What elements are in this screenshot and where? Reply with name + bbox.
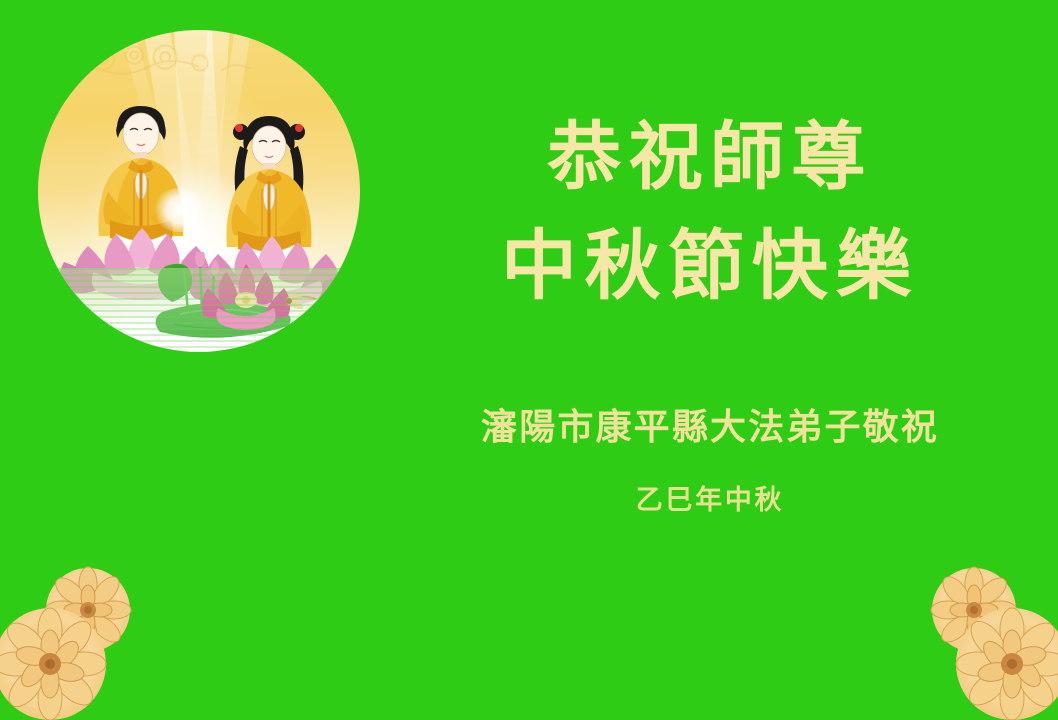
greeting-line-2: 中秋節快樂 [380,228,1040,304]
light-glow-orb [152,188,208,232]
cloud-scroll-pattern-icon [57,40,289,92]
water-reflection [38,268,360,352]
greeting-text-block: 恭祝師尊 中秋節快樂 [380,120,1040,304]
chrysanthemum-cluster-left [0,560,182,720]
chrysanthemum-cluster-right [880,560,1058,720]
date-line: 乙巳年中秋 [380,478,1040,517]
circular-illustration [38,30,360,352]
greeting-card: 恭祝師尊 中秋節快樂 瀋陽市康平縣大法弟子敬祝 乙巳年中秋 [0,0,1058,720]
signature-line: 瀋陽市康平縣大法弟子敬祝 [380,398,1040,450]
greeting-line-1: 恭祝師尊 [380,120,1040,194]
